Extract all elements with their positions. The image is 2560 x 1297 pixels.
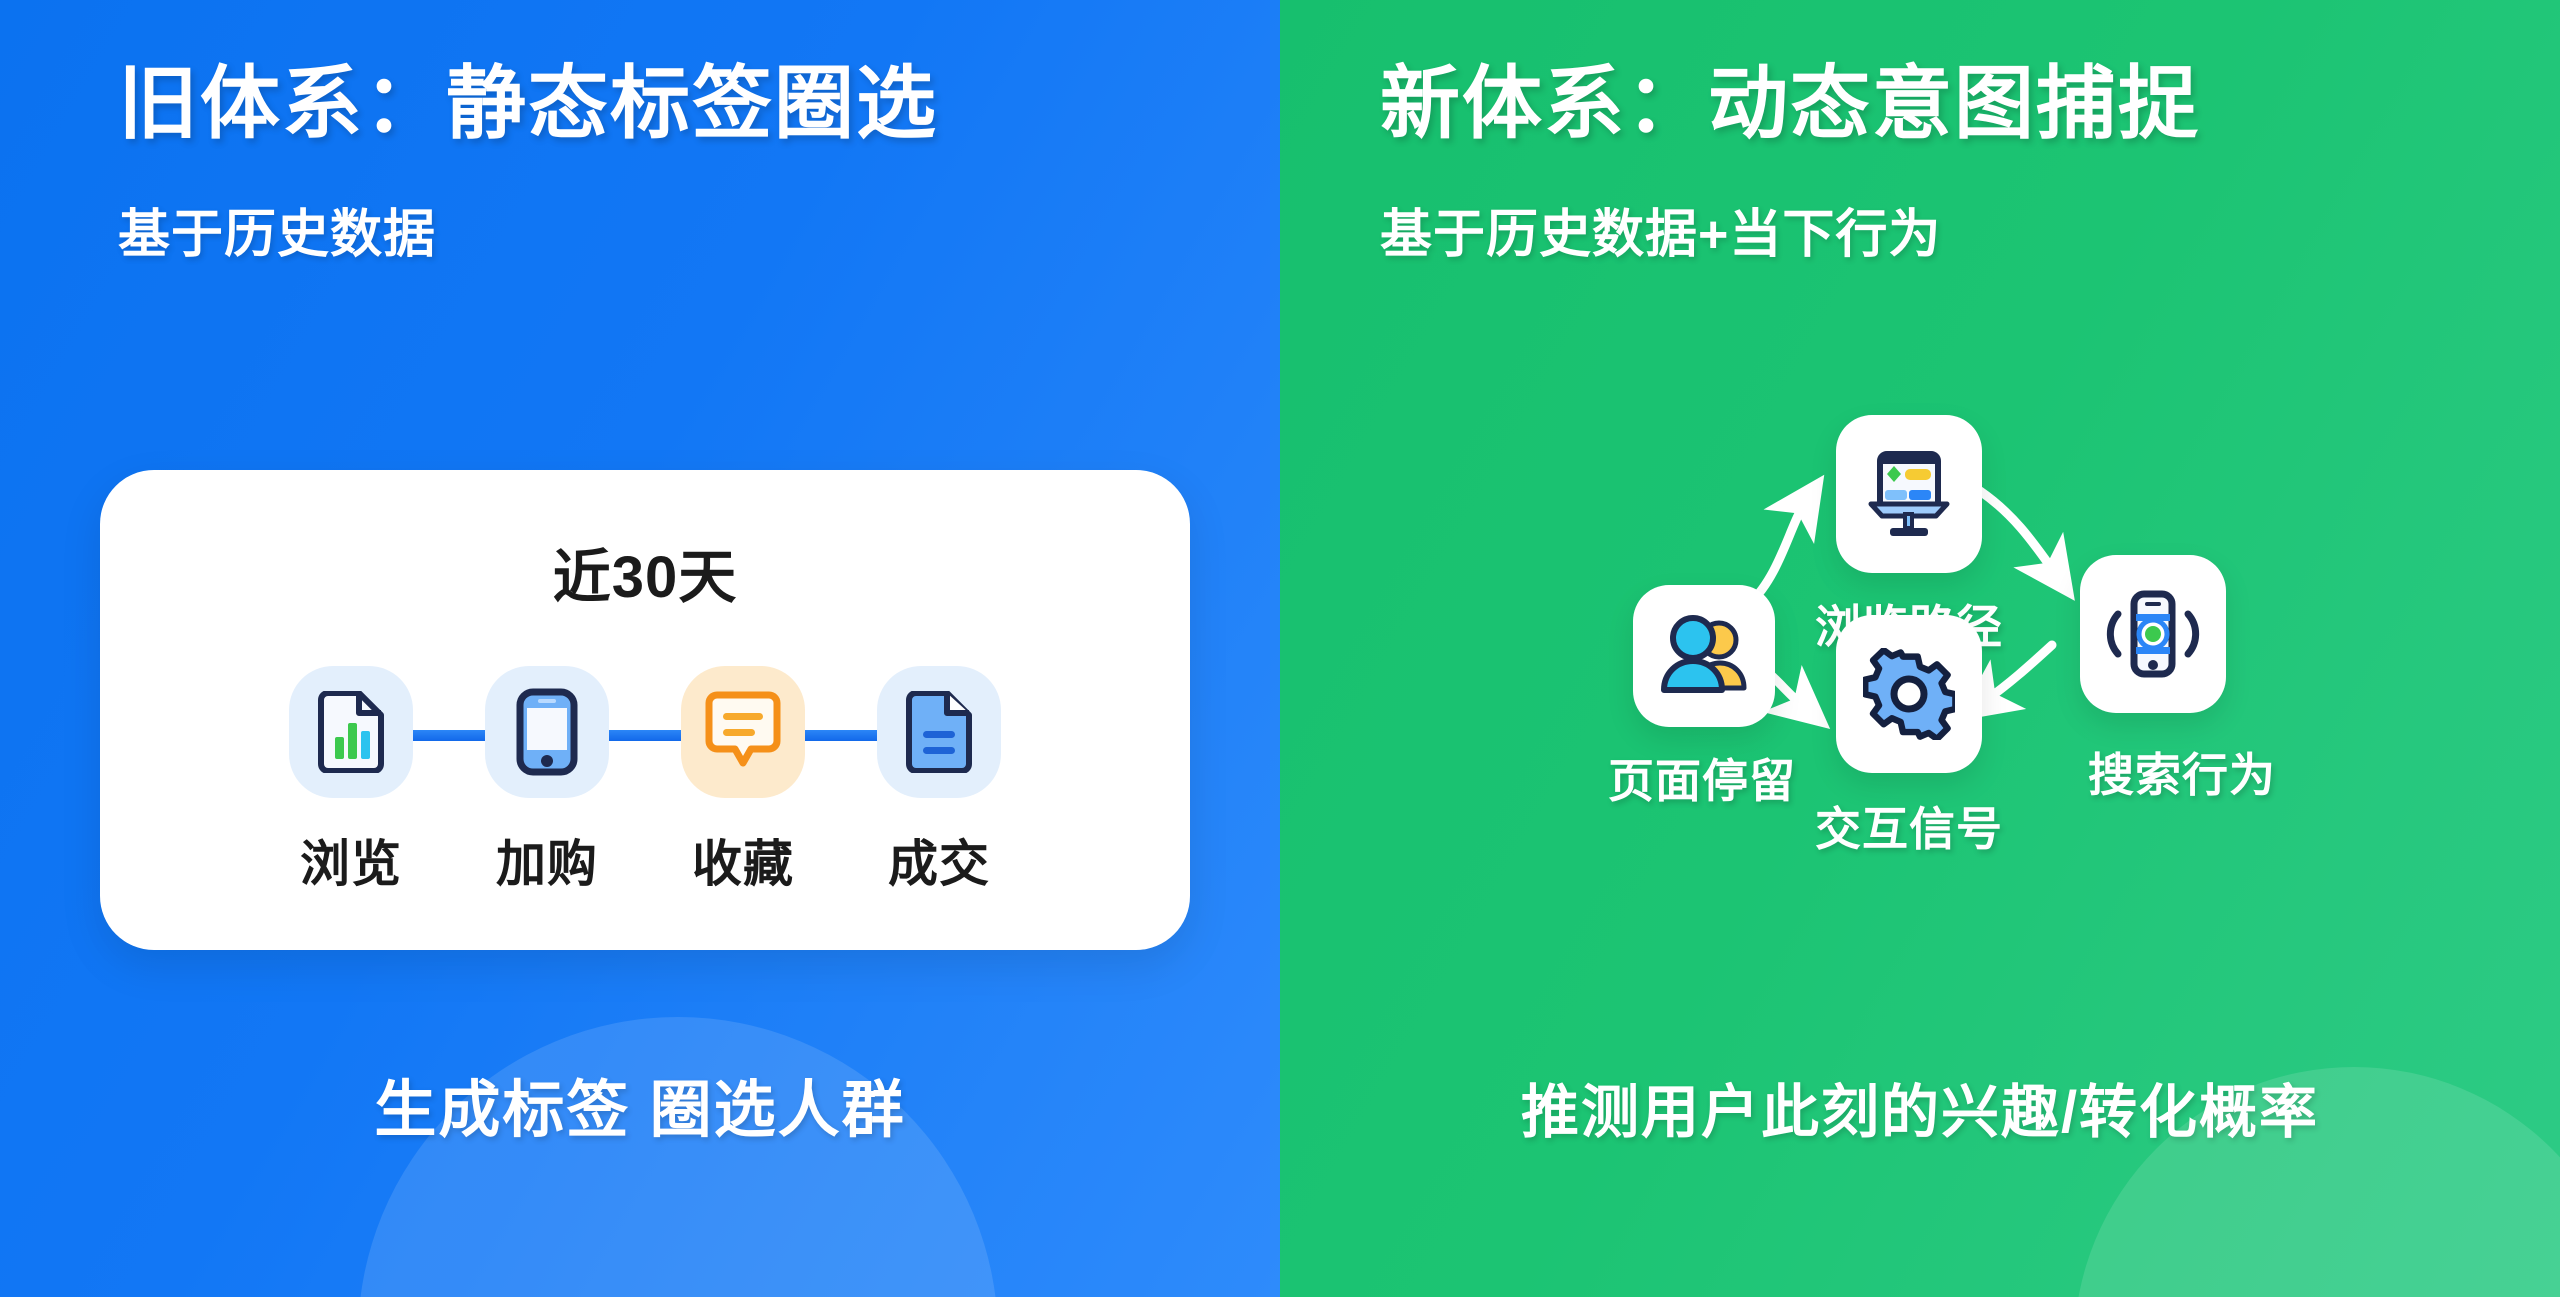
icon-tile	[2080, 555, 2226, 713]
funnel-step-label: 浏览	[300, 824, 402, 896]
old-system-subtitle: 基于历史数据	[118, 192, 1200, 267]
gear-icon	[1863, 648, 1955, 740]
funnel-step-label: 成交	[888, 824, 990, 896]
flow-node-interaction-signal[interactable]: 交互信号	[1815, 615, 2003, 859]
flow-node-label: 交互信号	[1815, 793, 2003, 859]
old-system-footer: 生成标签 圈选人群	[0, 1059, 1280, 1149]
new-system-subtitle: 基于历史数据+当下行为	[1380, 192, 2500, 267]
old-system-title: 旧体系：静态标签圈选	[118, 60, 1200, 148]
flow-node-label: 搜索行为	[2088, 739, 2276, 805]
document-chart-icon	[314, 691, 388, 773]
new-system-title: 新体系：动态意图捕捉	[1380, 60, 2500, 148]
icon-bubble	[289, 666, 413, 798]
funnel-step-row: 浏览 加购	[100, 666, 1190, 896]
icon-tile	[1633, 585, 1775, 727]
funnel-period-label: 近30天	[100, 530, 1190, 614]
icon-bubble	[681, 666, 805, 798]
two-people-icon	[1656, 614, 1752, 698]
funnel-step-label: 收藏	[692, 824, 794, 896]
icon-bubble	[485, 666, 609, 798]
phone-signal-icon	[2103, 588, 2203, 680]
document-lines-icon	[902, 691, 976, 773]
funnel-step-add-to-cart[interactable]: 加购	[449, 666, 645, 896]
icon-tile	[1836, 415, 1982, 573]
funnel-step-browse[interactable]: 浏览	[253, 666, 449, 896]
comparison-infographic: 旧体系：静态标签圈选 基于历史数据 近30天	[0, 0, 2560, 1297]
flow-node-audience[interactable]: 页面停留	[1612, 585, 1796, 811]
icon-bubble	[877, 666, 1001, 798]
flow-node-label: 页面停留	[1608, 745, 1796, 811]
funnel-card: 近30天	[100, 470, 1190, 950]
funnel-step-label: 加购	[496, 824, 598, 896]
icon-tile	[1836, 615, 1982, 773]
speech-bubble-icon	[703, 691, 783, 773]
flow-node-search-behavior[interactable]: 搜索行为	[2030, 555, 2276, 805]
new-system-footer: 推测用户此刻的兴趣/转化概率	[1280, 1065, 2560, 1149]
old-system-panel: 旧体系：静态标签圈选 基于历史数据 近30天	[0, 0, 1280, 1297]
smartphone-icon	[516, 688, 578, 776]
intent-flow-diagram: 页面停留	[1280, 395, 2560, 1035]
funnel-step-purchase[interactable]: 成交	[841, 666, 1037, 896]
desktop-monitor-icon	[1863, 448, 1955, 540]
new-system-panel: 新体系：动态意图捕捉 基于历史数据+当下行为	[1280, 0, 2560, 1297]
funnel-step-favorite[interactable]: 收藏	[645, 666, 841, 896]
